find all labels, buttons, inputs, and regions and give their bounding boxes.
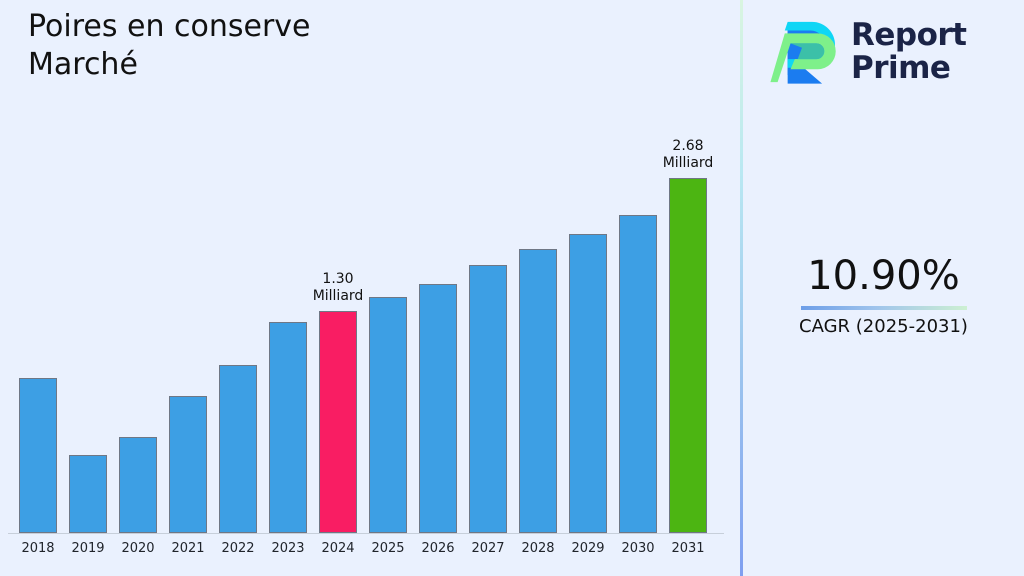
x-axis-tick-2020: 2020	[114, 541, 162, 556]
x-axis-tick-2029: 2029	[564, 541, 612, 556]
info-panel: Report Prime 10.90% CAGR (2025-2031)	[743, 0, 1024, 576]
cagr-block: 10.90% CAGR (2025-2031)	[743, 252, 1024, 339]
cagr-divider-rule	[801, 306, 967, 310]
cagr-value: 10.90%	[743, 252, 1024, 300]
bar-2022[interactable]	[219, 365, 257, 533]
x-axis-tick-2019: 2019	[64, 541, 112, 556]
bar-2020[interactable]	[119, 437, 157, 533]
bar-2030[interactable]	[619, 215, 657, 533]
bar-2023[interactable]	[269, 322, 307, 533]
x-axis-tick-2031: 2031	[664, 541, 712, 556]
x-axis-tick-2030: 2030	[614, 541, 662, 556]
x-axis-tick-2018: 2018	[14, 541, 62, 556]
x-axis-tick-2021: 2021	[164, 541, 212, 556]
chart-panel: Poires en conserve Marché 20182019202020…	[0, 0, 740, 576]
x-axis-tick-2023: 2023	[264, 541, 312, 556]
x-axis-tick-2022: 2022	[214, 541, 262, 556]
bar-2018[interactable]	[19, 378, 57, 533]
brand-name: Report Prime	[851, 19, 967, 85]
bar-2027[interactable]	[469, 265, 507, 533]
bar-2026[interactable]	[419, 284, 457, 533]
bar-2019[interactable]	[69, 455, 107, 533]
bar-2028[interactable]	[519, 249, 557, 533]
cagr-label: CAGR (2025-2031)	[743, 315, 1024, 339]
x-axis-tick-2024: 2024	[314, 541, 362, 556]
bar-chart-plot: 2018201920202021202220231.30 Milliard202…	[0, 0, 740, 576]
x-axis-tick-2026: 2026	[414, 541, 462, 556]
x-axis-tick-2027: 2027	[464, 541, 512, 556]
x-axis-line	[8, 533, 724, 534]
x-axis-tick-2028: 2028	[514, 541, 562, 556]
bar-value-label-2031: 2.68 Milliard	[642, 138, 734, 172]
x-axis-tick-2025: 2025	[364, 541, 412, 556]
bar-2025[interactable]	[369, 297, 407, 533]
bar-2029[interactable]	[569, 234, 607, 533]
bar-2031[interactable]	[669, 178, 707, 533]
bar-2021[interactable]	[169, 396, 207, 533]
brand-logo: Report Prime	[765, 10, 1013, 94]
bar-2024[interactable]	[319, 311, 357, 533]
report-prime-r-logo-icon	[765, 19, 839, 85]
